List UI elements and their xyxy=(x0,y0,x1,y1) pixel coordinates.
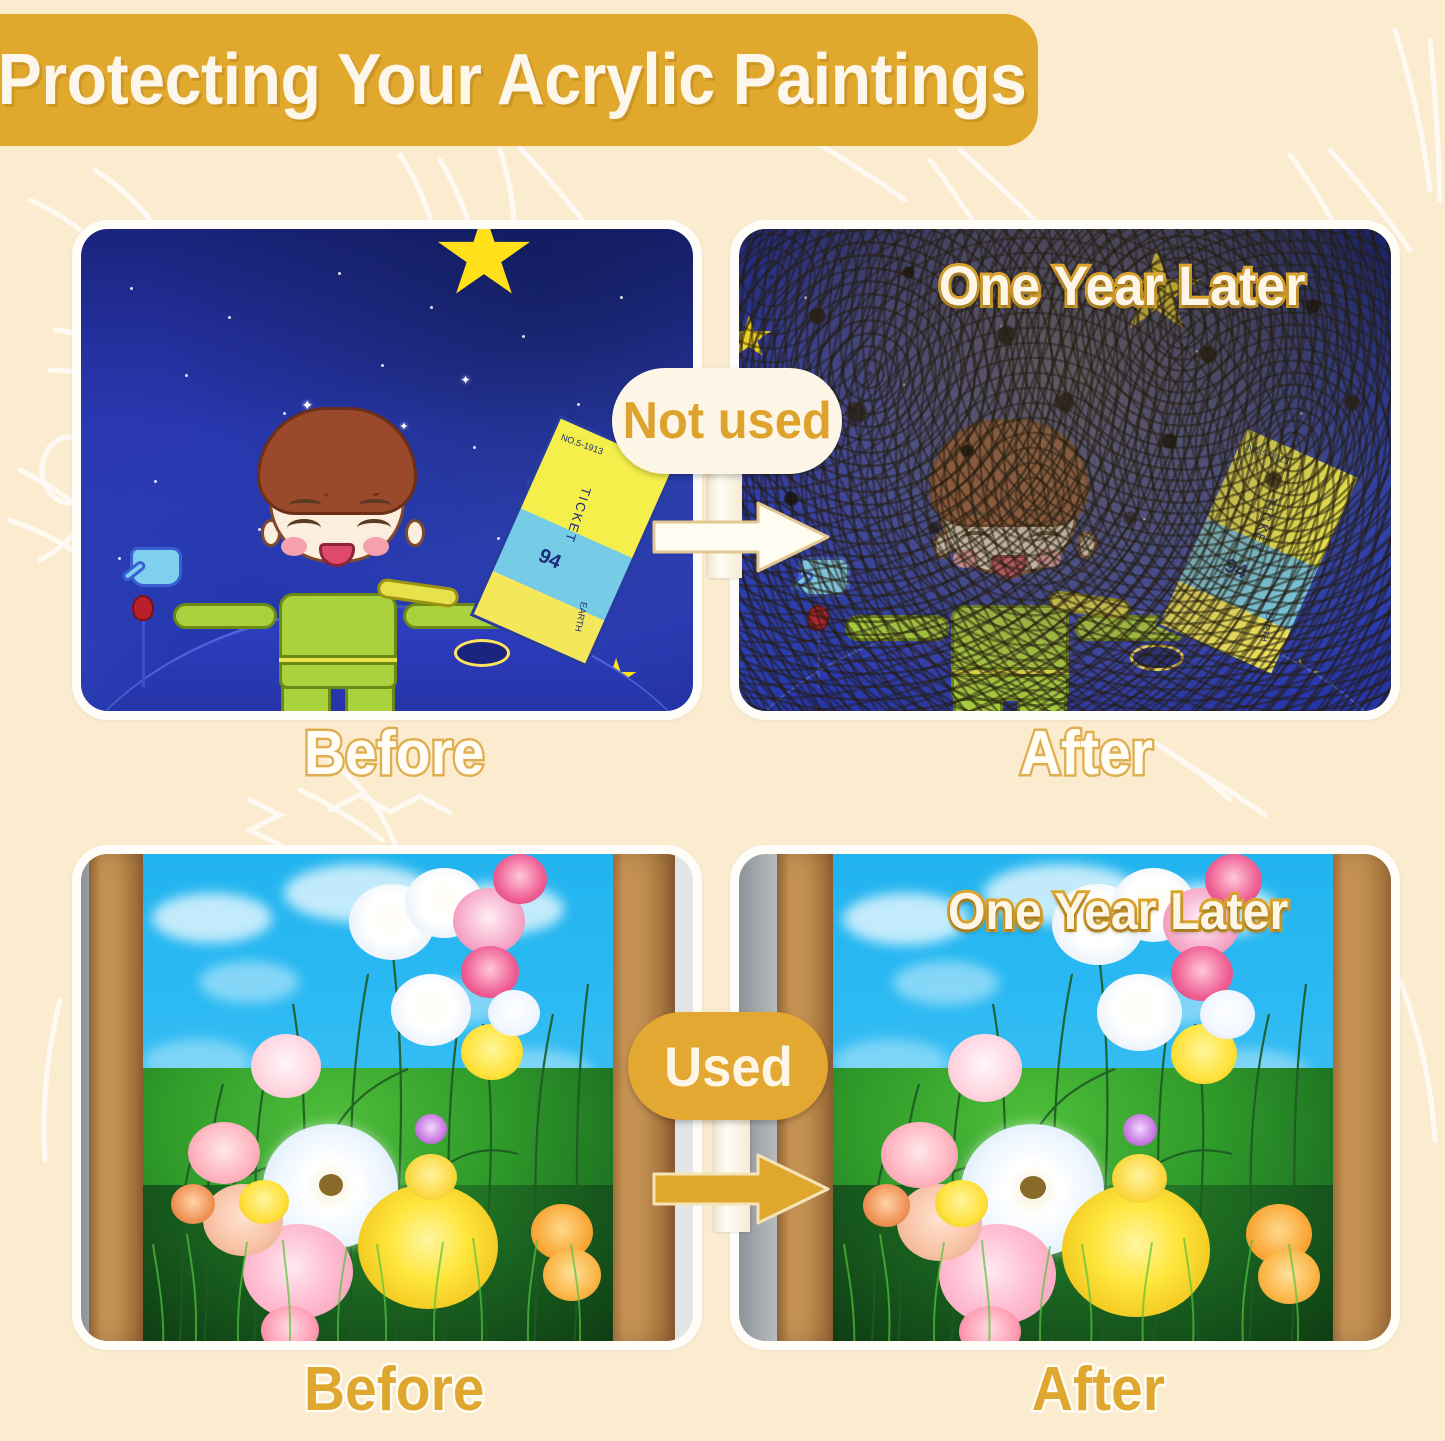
ticket-code: NO.5-1913 xyxy=(1246,442,1291,466)
grass-blades xyxy=(143,854,613,1341)
boy-body xyxy=(951,605,1069,701)
painting-canvas xyxy=(143,854,613,1341)
sign-pill-not-used: Not used xyxy=(612,368,842,474)
boy-ear-right xyxy=(405,519,425,547)
ticket-word: TICKET xyxy=(1248,495,1280,555)
boy-belt xyxy=(279,655,397,665)
boy-character xyxy=(257,407,437,707)
rose-stem xyxy=(142,615,145,687)
boy-eyebrow-right xyxy=(1031,511,1063,523)
boy-ear-right xyxy=(1077,531,1097,559)
ticket-word: TICKET xyxy=(562,486,594,546)
rose-bloom xyxy=(132,595,154,621)
ticket-origin: EARTH xyxy=(1259,611,1275,643)
ticket-code: NO.5-1913 xyxy=(560,433,605,457)
rose-bloom xyxy=(807,605,829,631)
page-title-banner: Protecting Your Acrylic Paintings xyxy=(0,14,1038,146)
image-panel-before-not-used: ✦ ✦ ✦ ✦ ✦ xyxy=(72,220,702,720)
ticket-number: 94 xyxy=(1221,555,1251,585)
caption-after-top: After xyxy=(1020,718,1153,789)
ticket-number: 94 xyxy=(535,545,565,575)
arrow-not-used xyxy=(650,500,832,574)
boy-body xyxy=(279,593,397,689)
caption-after-bottom: After xyxy=(1032,1354,1165,1425)
boy-eyebrow-right xyxy=(359,499,391,511)
page-title: Protecting Your Acrylic Paintings xyxy=(0,39,1026,121)
sign-label-not-used: Not used xyxy=(622,391,831,451)
overlay-one-year-later-bottom: One Year Later xyxy=(948,882,1289,942)
boy-belt xyxy=(951,667,1069,677)
caption-before-top: Before xyxy=(304,718,485,789)
boy-arm-left xyxy=(845,615,949,641)
easel-post-right xyxy=(1329,854,1391,1341)
overlay-one-year-later-top: One Year Later xyxy=(939,253,1306,318)
boy-arm-left xyxy=(173,603,277,629)
sign-pill-used: Used xyxy=(628,1012,828,1120)
wildflower-painting-before xyxy=(81,854,693,1341)
boy-cheek-right xyxy=(363,537,389,556)
planet-crater xyxy=(454,639,510,667)
caption-before-bottom: Before xyxy=(304,1354,485,1425)
arrow-used xyxy=(650,1152,832,1226)
boy-mouth xyxy=(319,543,355,567)
boy-eyebrow-left xyxy=(961,511,993,523)
ticket-origin: EARTH xyxy=(573,601,589,633)
planet-crater xyxy=(1130,644,1184,671)
boy-cheek-left xyxy=(281,537,307,556)
boy-character xyxy=(929,419,1109,711)
boy-eye-right xyxy=(1029,531,1063,549)
rose-stem xyxy=(817,624,820,688)
night-sky-painting-clean: ✦ ✦ ✦ ✦ ✦ xyxy=(81,229,693,711)
boy-cheek-left xyxy=(953,549,979,568)
sign-label-used: Used xyxy=(664,1034,793,1099)
boy-cheek-right xyxy=(1035,549,1061,568)
image-panel-before-used xyxy=(72,845,702,1350)
easel-post-left xyxy=(89,854,145,1341)
boy-eye-right xyxy=(357,519,391,537)
boy-mouth xyxy=(991,555,1027,579)
boy-eye-left xyxy=(959,531,993,549)
boy-eyebrow-left xyxy=(289,499,321,511)
boy-eye-left xyxy=(287,519,321,537)
